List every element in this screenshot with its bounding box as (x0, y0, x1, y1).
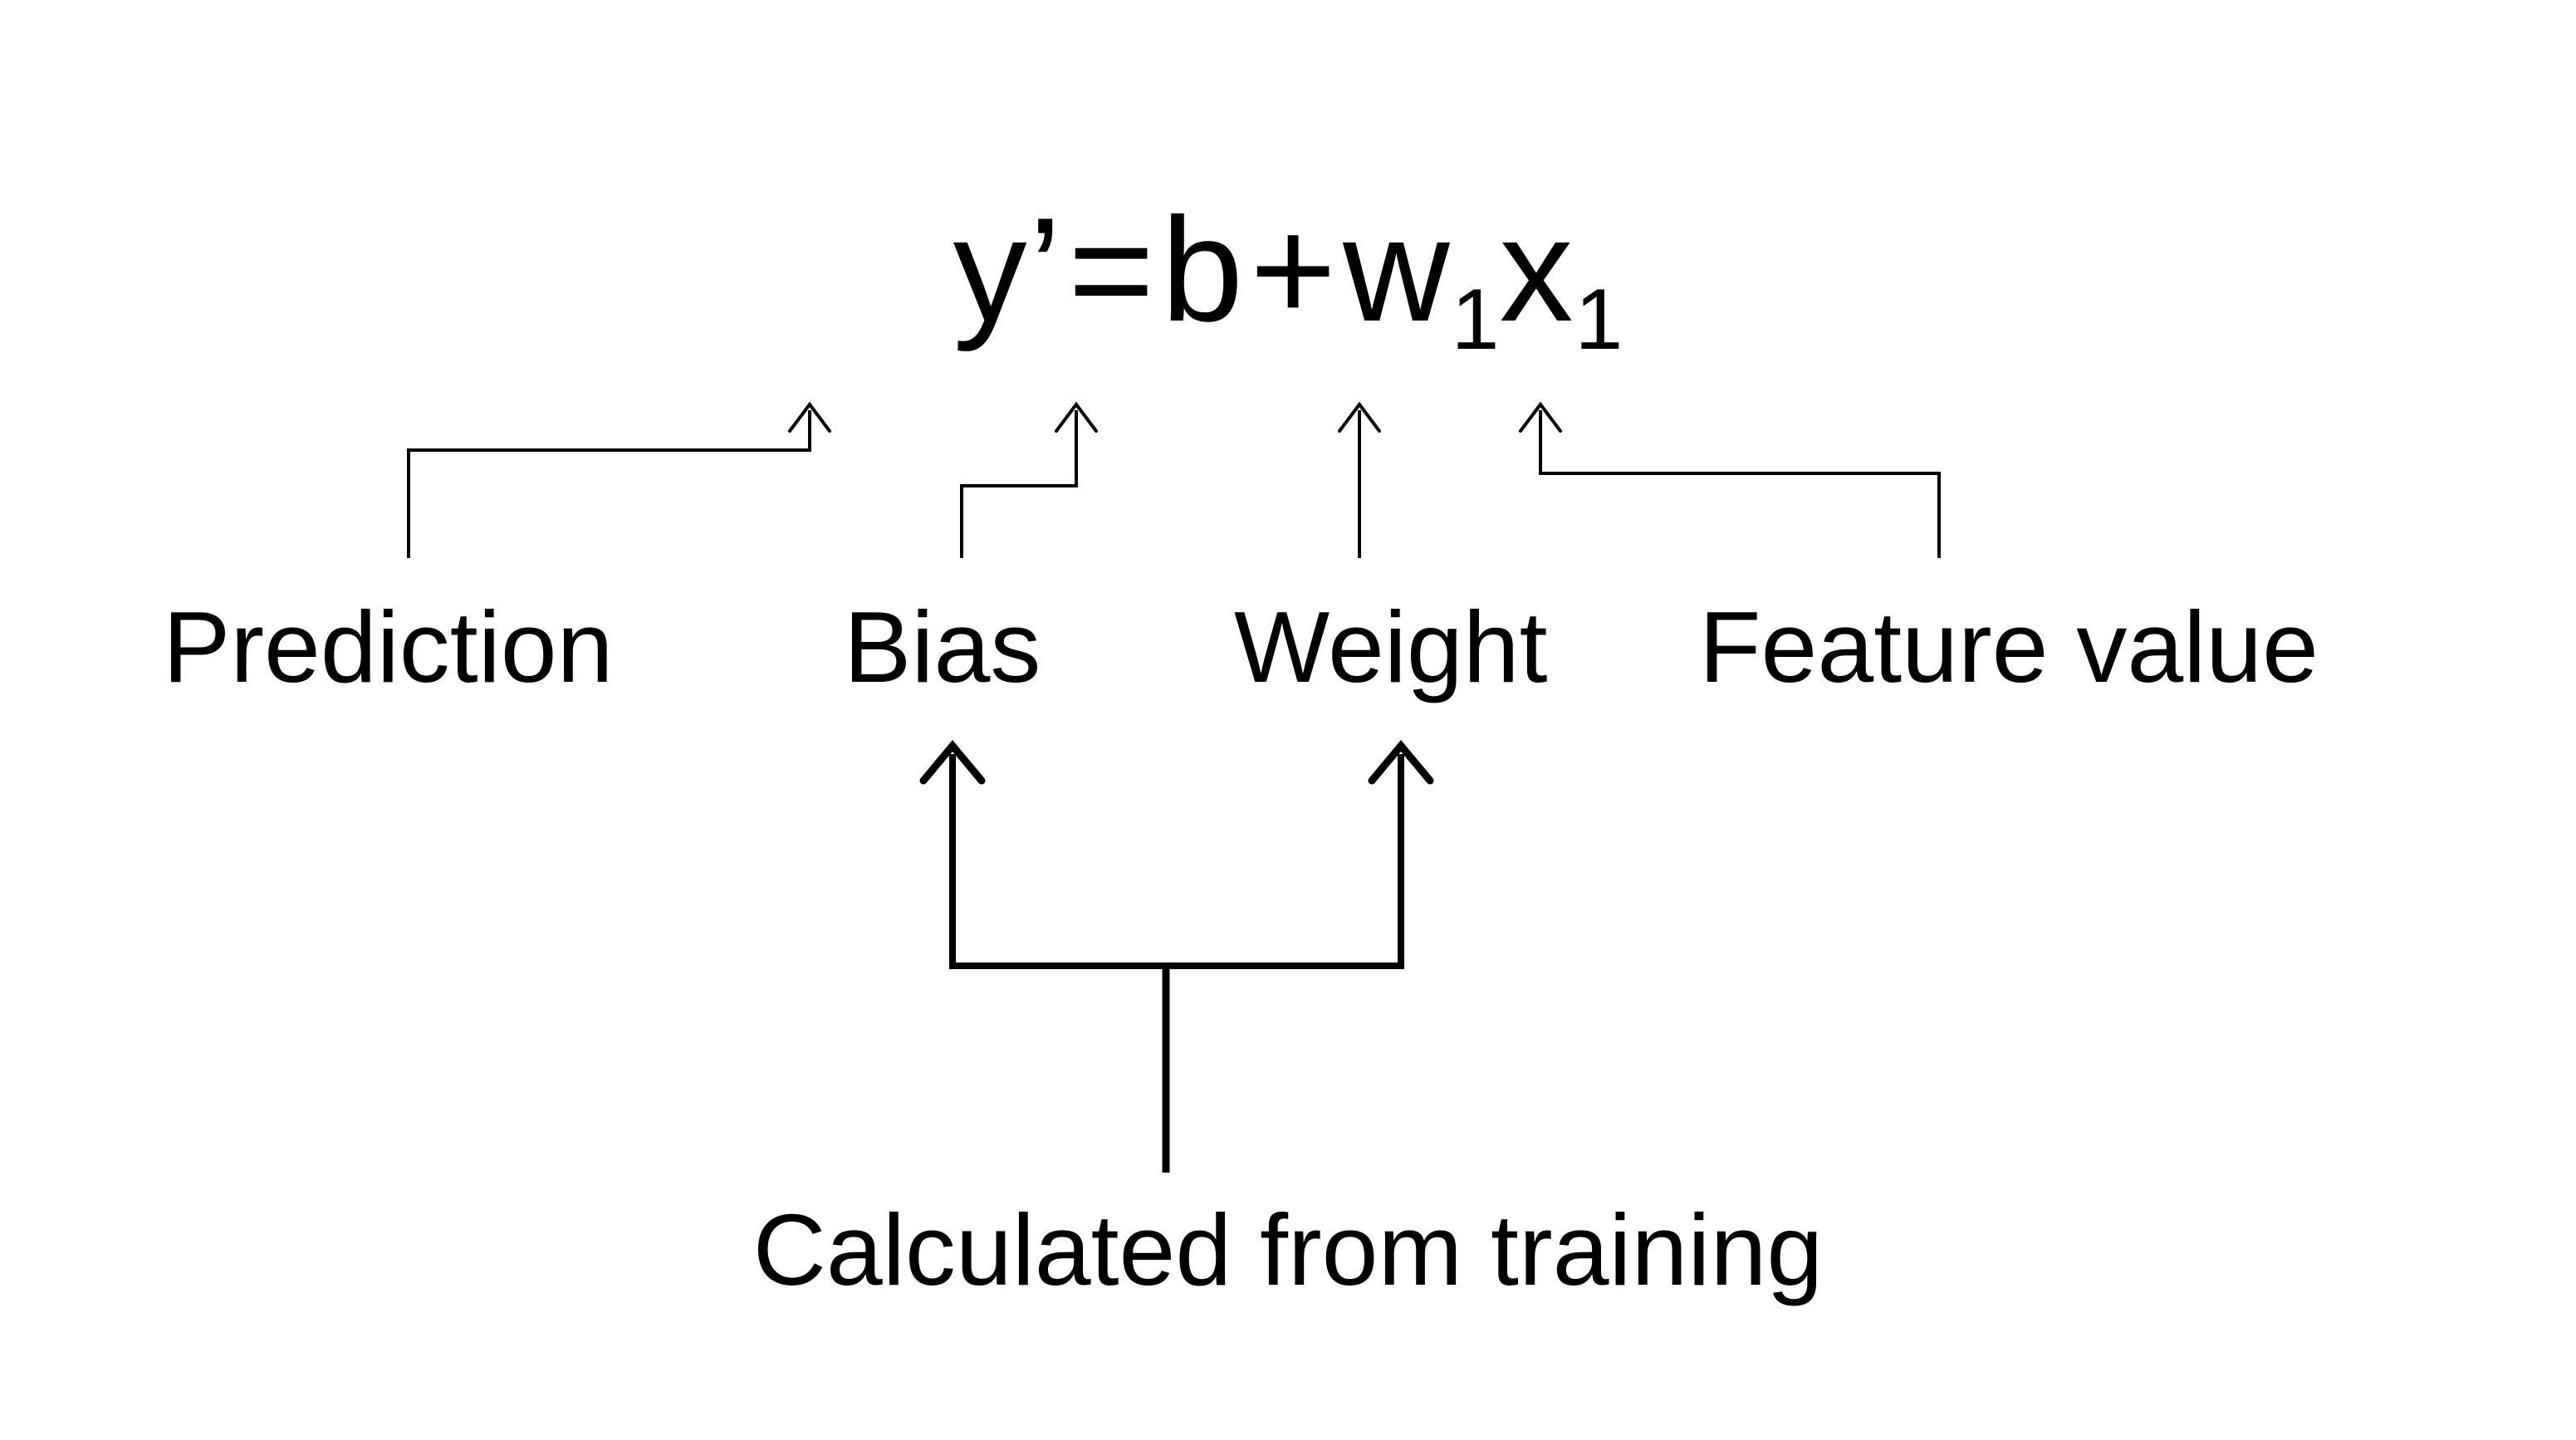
equation-prediction-symbol: y’ (953, 187, 1064, 352)
caption-calculated-from-training: Calculated from training (0, 1199, 2576, 1300)
equation-feature-subscript: 1 (1575, 272, 1623, 368)
weight-connector (1339, 404, 1379, 558)
term-label-feature-value: Feature value (1699, 596, 2319, 698)
equation-equals-sign: = (1063, 187, 1161, 352)
equation-weight-subscript: 1 (1452, 272, 1500, 368)
feature-connector-line (1540, 410, 1939, 558)
term-label-prediction: Prediction (163, 596, 614, 698)
equation-plus-sign: + (1245, 187, 1343, 352)
training-bracket (923, 746, 1430, 1173)
equation-weight-symbol: w (1343, 187, 1452, 352)
bias-connector (962, 404, 1096, 558)
feature-connector (1521, 404, 1939, 558)
equation-feature-symbol: x (1500, 187, 1575, 352)
bias-connector-line (962, 410, 1076, 558)
prediction-connector-line (409, 410, 810, 558)
equation: y’=b+w1x1 (0, 196, 2576, 344)
term-label-bias: Bias (844, 596, 1041, 698)
prediction-connector (409, 404, 830, 558)
term-label-weight: Weight (1234, 596, 1548, 698)
equation-bias-symbol: b (1161, 187, 1245, 352)
diagram-canvas: y’=b+w1x1 Prediction Bias Weight Feature… (0, 0, 2576, 1440)
